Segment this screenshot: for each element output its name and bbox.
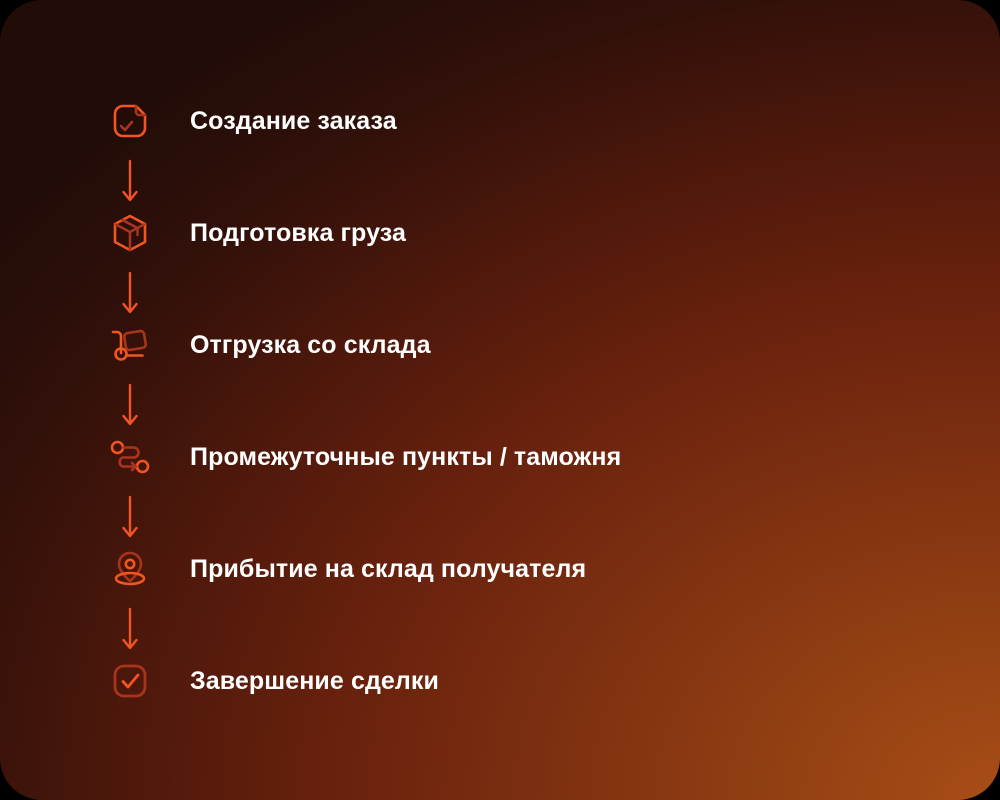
list-item-label: Завершение сделки bbox=[190, 669, 439, 694]
route-waypoints-icon bbox=[102, 429, 158, 485]
arrow-down-icon bbox=[114, 267, 146, 323]
checkbox-check-icon bbox=[102, 653, 158, 709]
list-item[interactable]: Прибытие на склад получателя bbox=[102, 541, 586, 597]
arrow-down-icon bbox=[114, 603, 146, 659]
map-pin-icon bbox=[102, 541, 158, 597]
list-item[interactable]: Промежуточные пункты / таможня bbox=[102, 429, 621, 485]
list-item-label: Подготовка груза bbox=[190, 221, 406, 246]
step-list: Создание заказа Подготовка груза bbox=[0, 0, 1000, 800]
list-item[interactable]: Создание заказа bbox=[102, 93, 397, 149]
list-item-label: Прибытие на склад получателя bbox=[190, 557, 586, 582]
list-item[interactable]: Подготовка груза bbox=[102, 205, 406, 261]
list-item[interactable]: Завершение сделки bbox=[102, 653, 439, 709]
arrow-down-icon bbox=[114, 379, 146, 435]
hand-truck-icon bbox=[102, 317, 158, 373]
list-item-label: Промежуточные пункты / таможня bbox=[190, 445, 621, 470]
arrow-down-icon bbox=[114, 155, 146, 211]
list-item-label: Создание заказа bbox=[190, 109, 397, 134]
list-item-label: Отгрузка со склада bbox=[190, 333, 431, 358]
document-check-icon bbox=[102, 93, 158, 149]
logistics-process-flow-card: Создание заказа Подготовка груза bbox=[0, 0, 1000, 800]
package-box-icon bbox=[102, 205, 158, 261]
arrow-down-icon bbox=[114, 491, 146, 547]
list-item[interactable]: Отгрузка со склада bbox=[102, 317, 431, 373]
